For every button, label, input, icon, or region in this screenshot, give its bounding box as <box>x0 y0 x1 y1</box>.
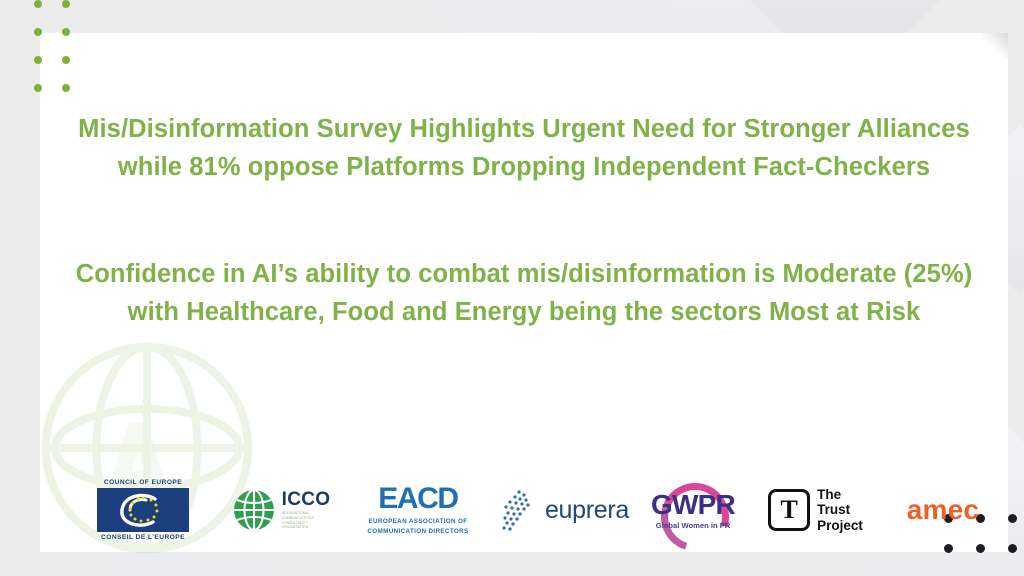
euprera-logo: euprera <box>493 488 633 532</box>
card-corner-fold <box>982 33 1008 59</box>
icco-subtitle-line: ORGANISATION <box>282 525 331 530</box>
trust-project-logo: T The Trust Project <box>753 487 878 532</box>
europe-stars-e-icon <box>106 491 180 529</box>
icco-subtitle: INTERNATIONAL COMMUNICATIONS CONSULTANCY… <box>282 511 331 531</box>
partner-logo-strip: COUNCIL OF EUROPE CONSEIL DE L’EUROPE <box>40 470 1008 550</box>
amec-title: amec <box>907 494 979 526</box>
headline-block-primary: Mis/Disinformation Survey Highlights Urg… <box>40 110 1008 186</box>
headline-area: Mis/Disinformation Survey Highlights Urg… <box>40 110 1008 331</box>
trust-project-mark-letter: T <box>780 497 797 523</box>
dot-grid-icon <box>34 0 90 112</box>
headline-line: with Healthcare, Food and Energy being t… <box>40 293 1008 331</box>
icco-text-group: ICCO INTERNATIONAL COMMUNICATIONS CONSUL… <box>282 490 331 531</box>
trust-project-title-line: The <box>817 487 863 502</box>
icco-title: ICCO <box>282 490 331 509</box>
eacd-subtitle-line: EUROPEAN ASSOCIATION OF <box>367 517 468 527</box>
trust-project-title-line: Project <box>817 518 863 533</box>
dotted-europe-map-icon <box>497 488 539 532</box>
trust-project-title: The Trust Project <box>817 487 863 532</box>
trust-project-t-icon: T <box>768 489 810 531</box>
gwpr-subtitle: Global Women in PR <box>656 521 731 530</box>
headline-line: Confidence in AI’s ability to combat mis… <box>40 255 1008 293</box>
headline-line: while 81% oppose Platforms Dropping Inde… <box>40 148 1008 186</box>
trust-project-title-line: Trust <box>817 502 863 517</box>
headline-line: Mis/Disinformation Survey Highlights Urg… <box>40 110 1008 148</box>
eacd-logo: EACD EUROPEAN ASSOCIATION OF COMMUNICATI… <box>343 484 493 537</box>
coe-bottom-text: CONSEIL DE L’EUROPE <box>101 534 185 541</box>
eacd-subtitle-line: COMMUNICATION DIRECTORS <box>367 527 468 537</box>
euprera-title: euprera <box>545 496 629 525</box>
coe-emblem-box <box>97 488 189 532</box>
gwpr-logo: GWPR Global Women in PR <box>633 491 753 530</box>
gwpr-title: GWPR <box>651 491 735 519</box>
eacd-title: EACD <box>378 484 457 514</box>
eacd-subtitle: EUROPEAN ASSOCIATION OF COMMUNICATION DI… <box>367 517 468 537</box>
icco-logo: ICCO INTERNATIONAL COMMUNICATIONS CONSUL… <box>218 487 343 533</box>
headline-block-secondary: Confidence in AI’s ability to combat mis… <box>40 255 1008 331</box>
coe-top-text: COUNCIL OF EUROPE <box>104 479 182 486</box>
amec-logo: amec <box>878 494 1008 526</box>
council-of-europe-logo: COUNCIL OF EUROPE CONSEIL DE L’EUROPE <box>68 479 218 541</box>
green-globe-icon <box>231 487 277 533</box>
